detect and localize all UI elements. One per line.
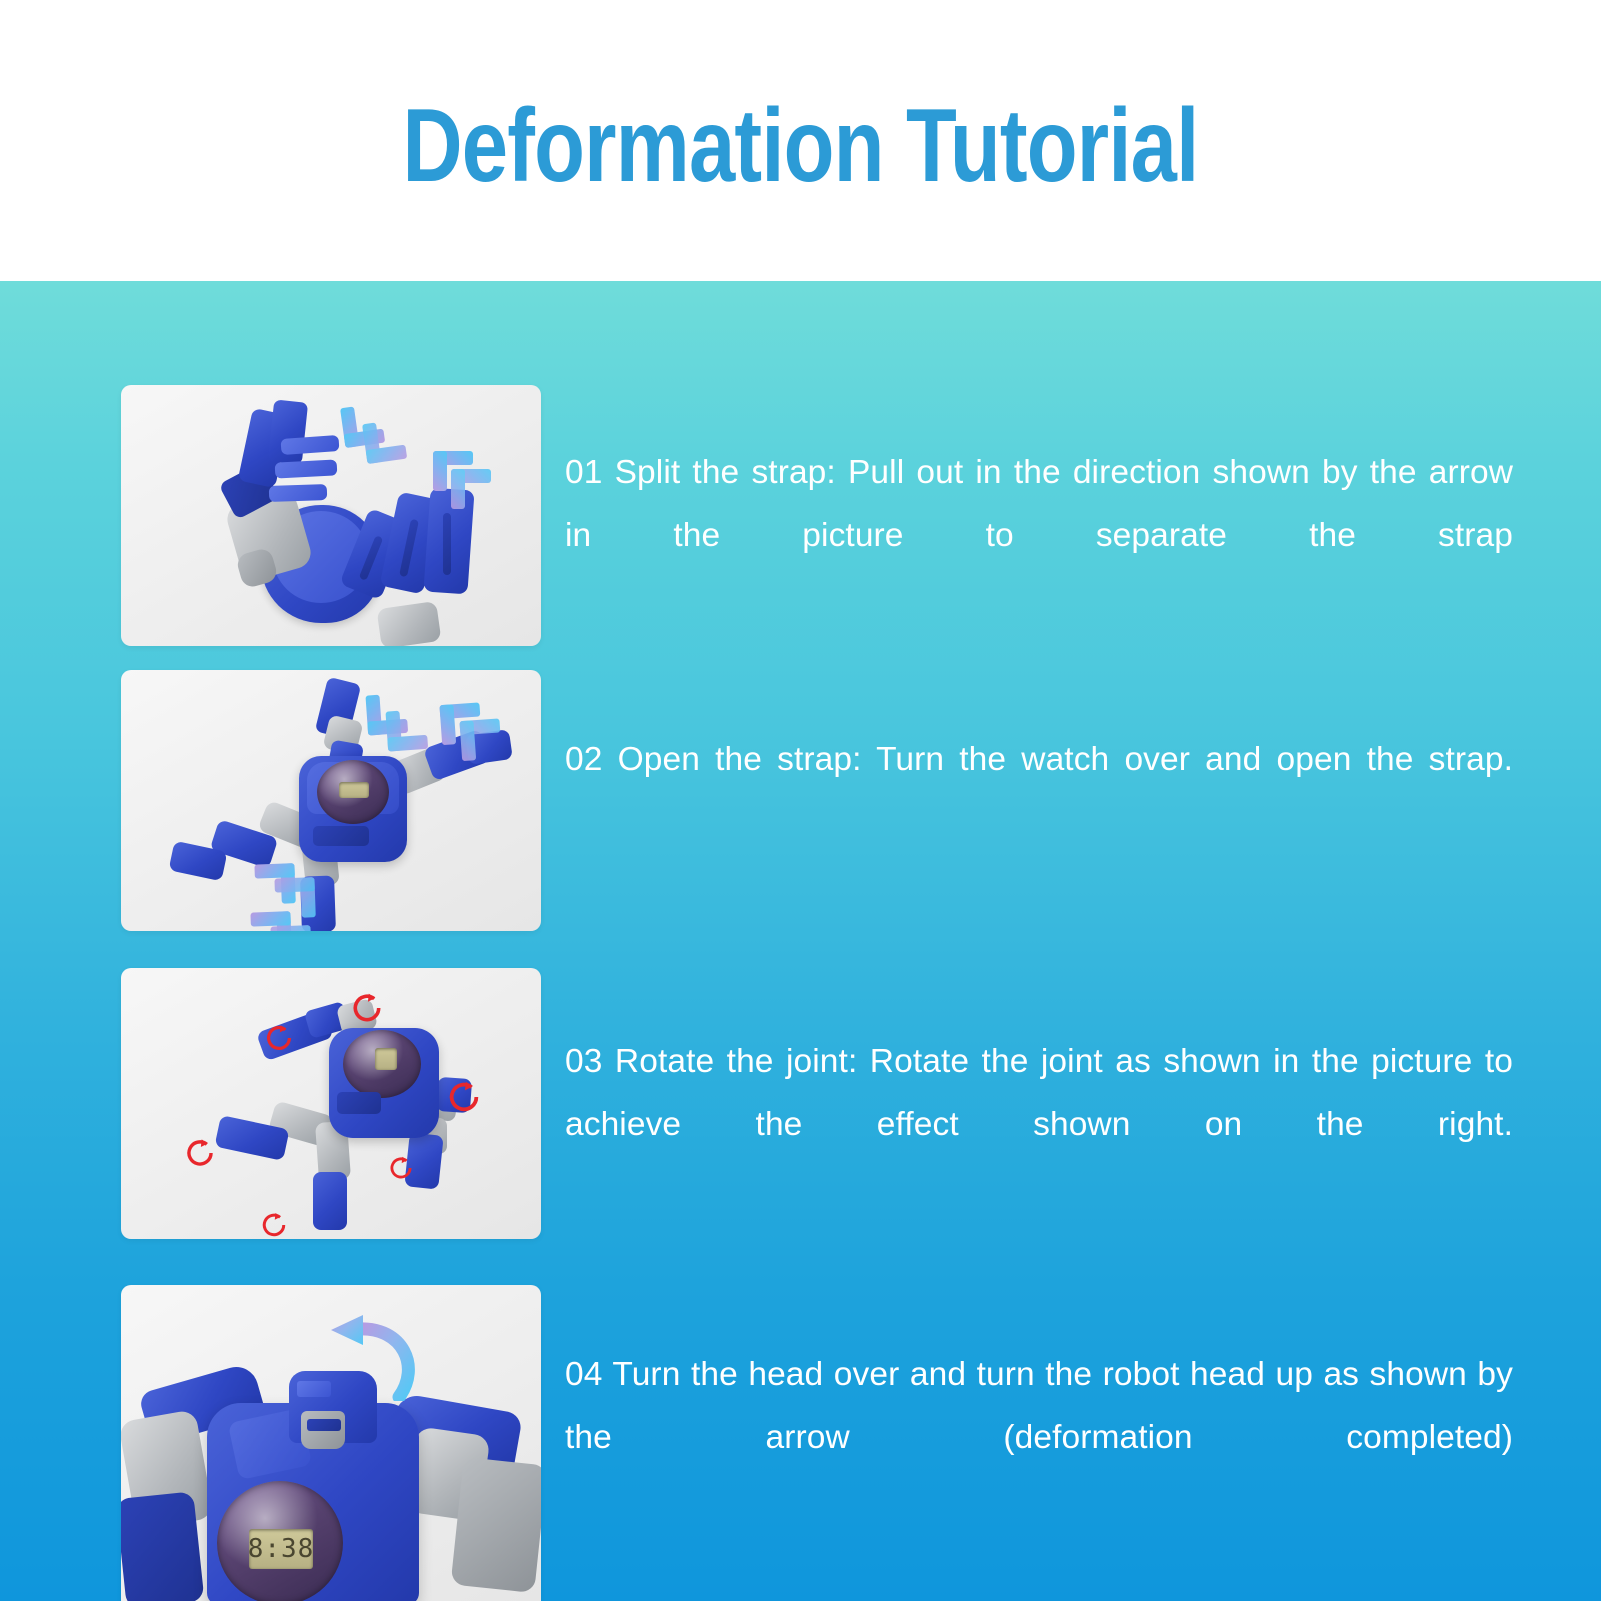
- arm-left-lower: [121, 1491, 205, 1601]
- rotate-marker-icon: [349, 990, 385, 1026]
- page-title: Deformation Tutorial: [403, 94, 1199, 198]
- watch-lower-detail: [313, 826, 369, 846]
- left-strap-prong-3: [269, 484, 328, 502]
- watch-face: [317, 760, 389, 824]
- step-image-04: 8:38: [121, 1285, 541, 1601]
- robot-visor: [307, 1419, 341, 1431]
- chevron-arrow-icon: [445, 469, 491, 515]
- rotate-marker-icon: [183, 1136, 217, 1170]
- scene-open-strap: [121, 670, 541, 931]
- rotate-marker-icon: [259, 1210, 289, 1239]
- step-image-01: [121, 385, 541, 646]
- watch-lcd: 8:38: [249, 1529, 313, 1569]
- rotate-marker-icon: [445, 1078, 483, 1116]
- watch-lcd: [375, 1048, 397, 1070]
- left-strap-link-2: [268, 399, 308, 464]
- chevron-arrow-icon: [453, 718, 502, 767]
- scene-split-strap: [121, 385, 541, 646]
- steps-list: 01 Split the strap: Pull out in the dire…: [0, 281, 1601, 1601]
- tutorial-page: Deformation Tutorial: [0, 0, 1601, 1601]
- page-header: Deformation Tutorial: [0, 0, 1601, 281]
- watch-lower-detail: [337, 1092, 381, 1114]
- chevron-arrow-icon: [264, 919, 312, 931]
- arm-right-lower: [451, 1457, 541, 1593]
- chevron-arrow-icon: [385, 708, 434, 757]
- chevron-arrow-icon: [362, 418, 414, 470]
- step-image-03: [121, 968, 541, 1239]
- left-strap-prong-2: [275, 459, 338, 478]
- step-text-03: 03 Rotate the joint: Rotate the joint as…: [565, 1030, 1513, 1219]
- step-text-04: 04 Turn the head over and turn the robot…: [565, 1343, 1513, 1532]
- left-strap-prong-1: [281, 435, 340, 455]
- curved-arrow-icon: [303, 1315, 423, 1401]
- right-strap-slot-3: [443, 513, 451, 575]
- rotate-marker-icon: [387, 1154, 415, 1182]
- step-text-02: 02 Open the strap: Turn the watch over a…: [565, 728, 1513, 854]
- rotate-marker-icon: [263, 1022, 295, 1054]
- scene-completed-robot: 8:38: [121, 1285, 541, 1601]
- watch-face: 8:38: [217, 1481, 343, 1601]
- step-text-01: 01 Split the strap: Pull out in the dire…: [565, 441, 1513, 630]
- step-image-02: [121, 670, 541, 931]
- scene-rotate-joint: [121, 968, 541, 1239]
- watch-lcd: [339, 782, 369, 798]
- strap-grey-clasp: [377, 601, 442, 646]
- leg-left-a: [313, 1172, 347, 1230]
- watch-face: [343, 1030, 421, 1098]
